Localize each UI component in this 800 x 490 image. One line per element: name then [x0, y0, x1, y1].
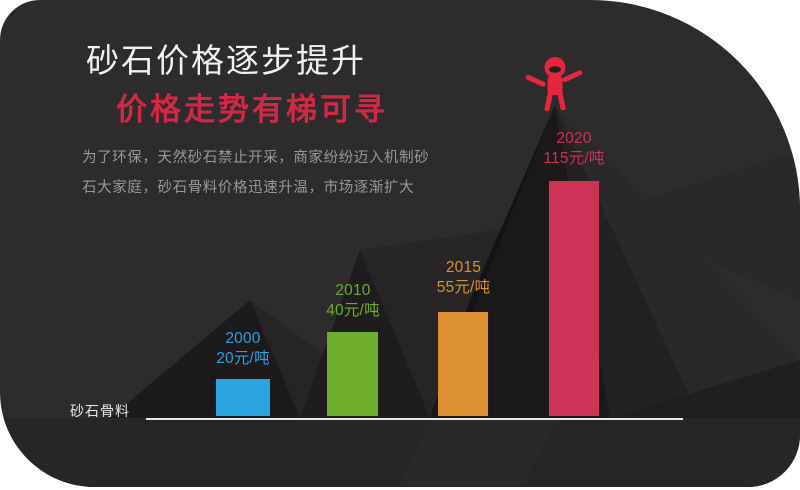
- bar-label-2010: 2010 40元/吨: [292, 281, 414, 321]
- bar-year-2015: 2015: [403, 258, 524, 278]
- bar-year-2000: 2000: [180, 329, 306, 349]
- body-paragraph: 为了环保，天然砂石禁止开采，商家纷纷迈入机制砂石大家庭，砂石骨料价格迅速升温，市…: [82, 144, 434, 203]
- bar-price-2015: 55元/吨: [403, 278, 524, 298]
- bar-label-2000: 2000 20元/吨: [180, 329, 306, 369]
- page-subtitle: 价格走势有梯可寻: [116, 84, 388, 129]
- bar-2020[interactable]: [549, 181, 599, 416]
- bar-price-2010: 40元/吨: [292, 301, 414, 321]
- bar-label-2015: 2015 55元/吨: [403, 258, 524, 298]
- celebrating-stick-figure-icon: [524, 54, 586, 112]
- page-title: 砂石价格逐步提升: [86, 34, 366, 82]
- bar-year-2020: 2020: [513, 129, 635, 149]
- bar-2010[interactable]: [327, 332, 378, 416]
- slide-canvas: 2000 20元/吨 2010 40元/吨 2015 55元/吨 2020 11…: [0, 0, 800, 490]
- dark-panel: 2000 20元/吨 2010 40元/吨 2015 55元/吨 2020 11…: [0, 0, 800, 487]
- bar-2015[interactable]: [438, 312, 488, 416]
- bar-price-2020: 115元/吨: [513, 149, 635, 169]
- bar-label-2020: 2020 115元/吨: [513, 129, 635, 169]
- chart-baseline: [146, 418, 683, 420]
- bar-2000[interactable]: [216, 379, 270, 416]
- axis-label: 砂石骨料: [70, 401, 130, 421]
- bar-price-2000: 20元/吨: [180, 349, 306, 369]
- bar-year-2010: 2010: [292, 281, 414, 301]
